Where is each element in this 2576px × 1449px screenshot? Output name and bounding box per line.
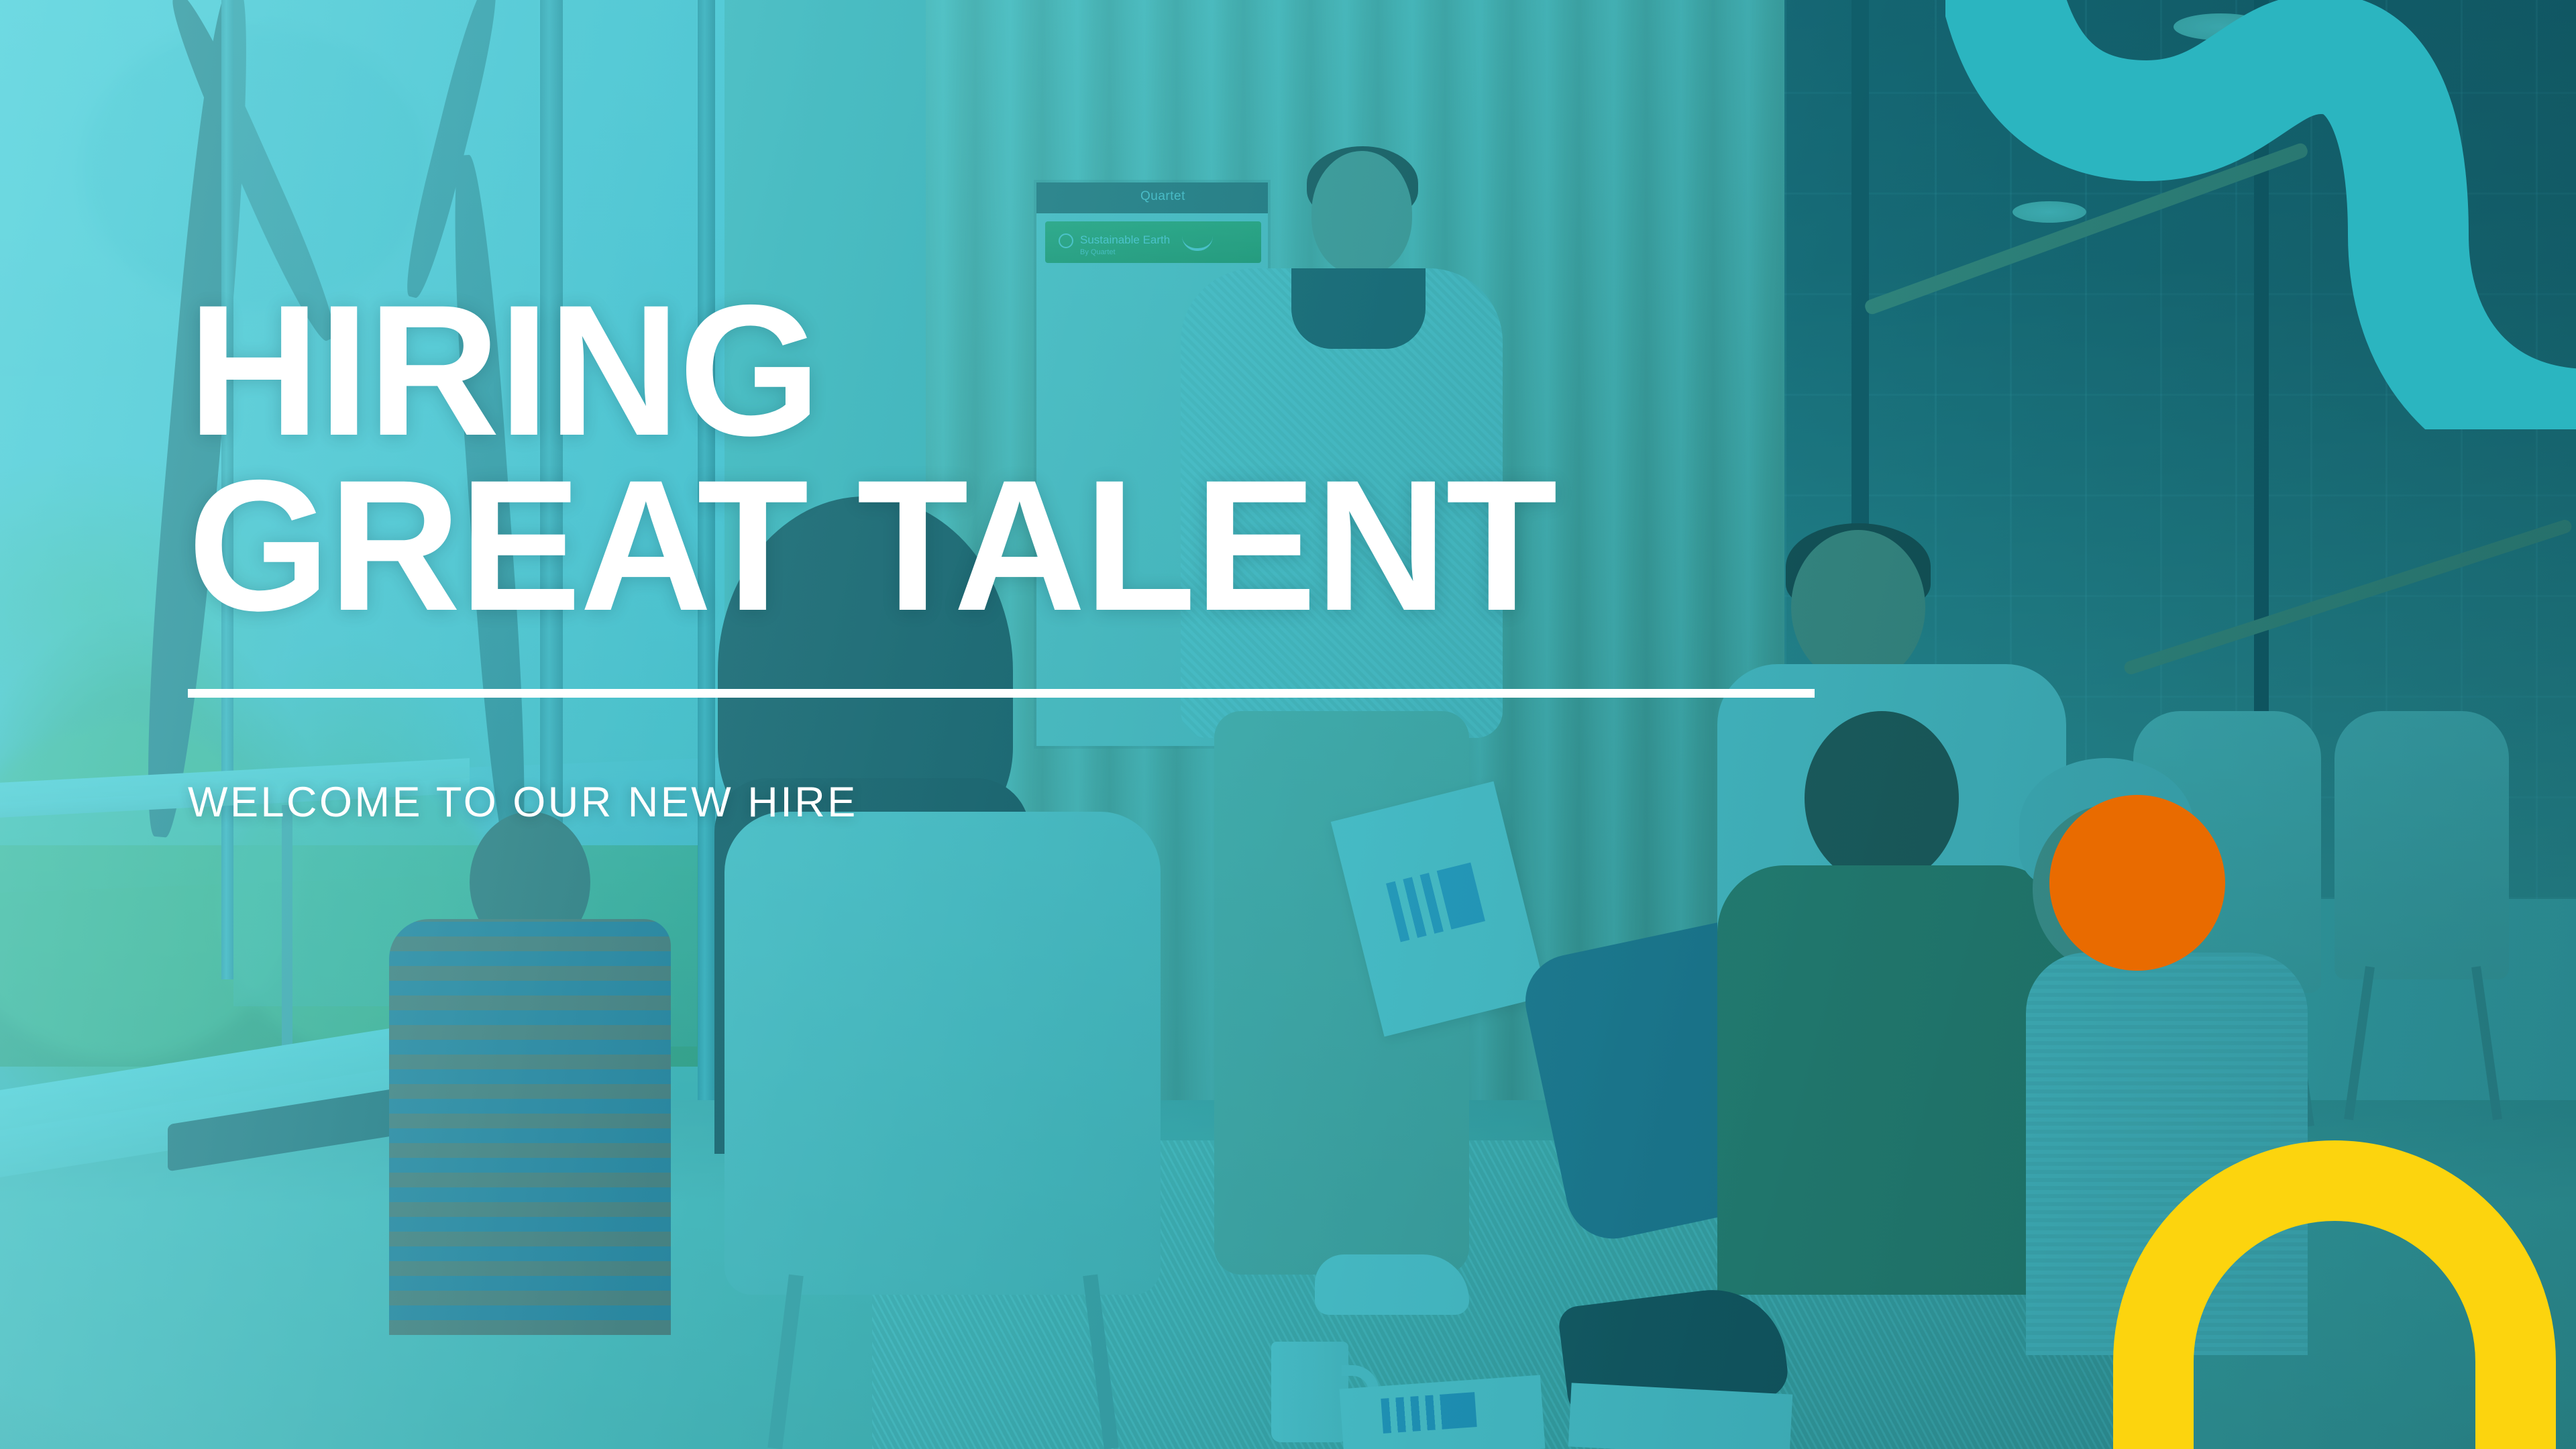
headline-line-2: GREAT TALENT [188,464,2160,628]
white-divider-rule [188,689,1815,698]
hiring-banner: Quartet Sustainable Earth By Quartet [0,0,2576,1449]
subheadline: WELCOME TO OUR NEW HIRE [188,778,2200,826]
headline-line-1: HIRING [188,288,2160,453]
banner-content: HIRING GREAT TALENT WELCOME TO OUR NEW H… [188,288,2200,826]
